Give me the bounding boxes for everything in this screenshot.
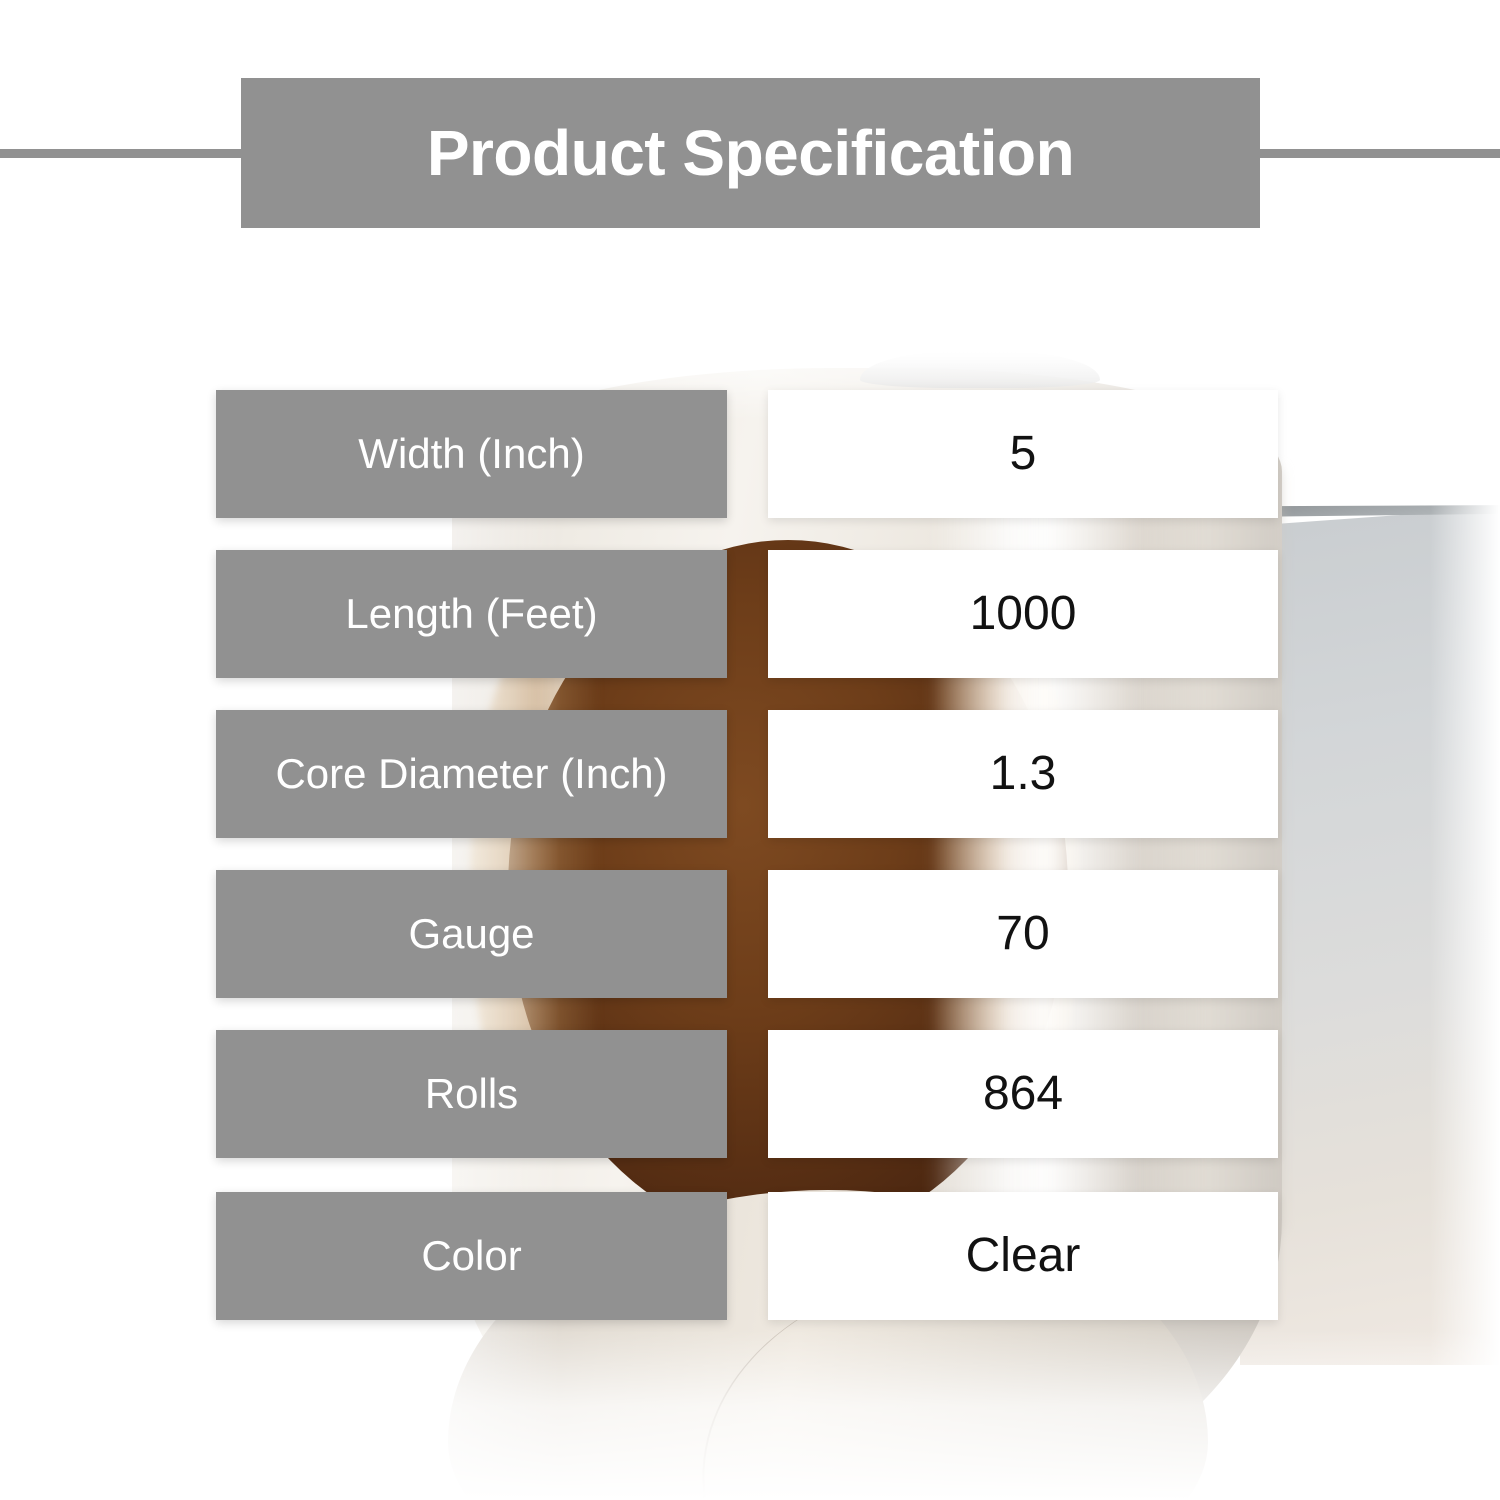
spec-value-cell: 864 — [768, 1030, 1278, 1158]
spec-value-text: Clear — [966, 1232, 1081, 1280]
specification-table: Width (Inch) 5 Length (Feet) 1000 Core D… — [0, 0, 1500, 1500]
spec-value-text: 1000 — [970, 590, 1077, 638]
spec-label-text: Gauge — [394, 913, 548, 956]
spec-value-cell: Clear — [768, 1192, 1278, 1320]
spec-value-cell: 1000 — [768, 550, 1278, 678]
spec-value-cell: 70 — [768, 870, 1278, 998]
spec-label-cell: Gauge — [216, 870, 727, 998]
spec-label-text: Core Diameter (Inch) — [261, 753, 681, 796]
spec-value-text: 864 — [983, 1070, 1063, 1118]
spec-label-text: Width (Inch) — [344, 433, 598, 476]
spec-label-cell: Width (Inch) — [216, 390, 727, 518]
spec-label-cell: Length (Feet) — [216, 550, 727, 678]
spec-label-text: Rolls — [411, 1073, 532, 1116]
table-row: Gauge 70 — [0, 870, 1500, 998]
table-row: Core Diameter (Inch) 1.3 — [0, 710, 1500, 838]
table-row: Rolls 864 — [0, 1030, 1500, 1158]
spec-value-cell: 1.3 — [768, 710, 1278, 838]
spec-label-cell: Core Diameter (Inch) — [216, 710, 727, 838]
table-row: Length (Feet) 1000 — [0, 550, 1500, 678]
spec-value-text: 1.3 — [990, 750, 1057, 798]
table-row: Color Clear — [0, 1192, 1500, 1320]
spec-label-cell: Rolls — [216, 1030, 727, 1158]
spec-label-cell: Color — [216, 1192, 727, 1320]
spec-label-text: Color — [407, 1235, 535, 1278]
spec-label-text: Length (Feet) — [331, 593, 611, 636]
table-row: Width (Inch) 5 — [0, 390, 1500, 518]
spec-value-cell: 5 — [768, 390, 1278, 518]
spec-value-text: 70 — [996, 910, 1049, 958]
spec-value-text: 5 — [1010, 430, 1037, 478]
